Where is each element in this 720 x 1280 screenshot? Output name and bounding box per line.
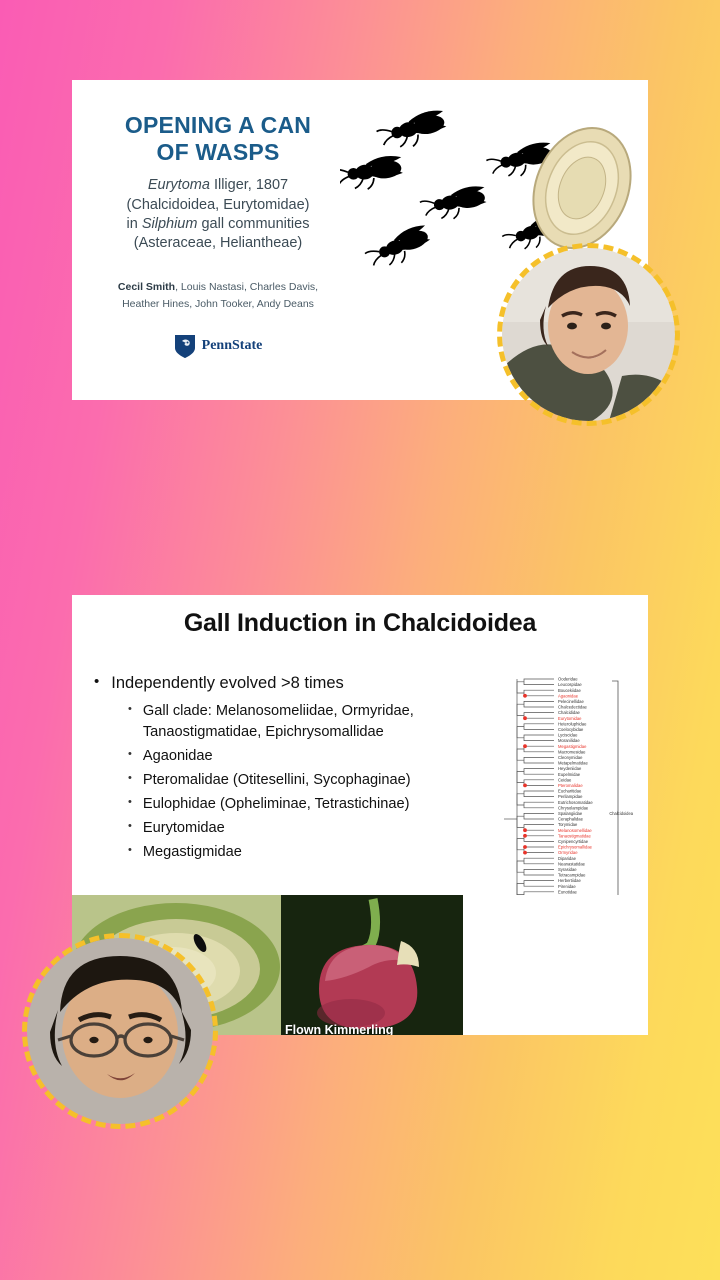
bullet-dot-icon: • (128, 746, 132, 766)
page-title: OPENING A CAN OF WASPS (88, 112, 348, 166)
authority-year: Illiger, 1807 (210, 177, 288, 193)
sub-bullet-label: Pteromalidae (Otitesellini, Sycophaginae… (143, 770, 411, 790)
gall-origin-node (523, 744, 527, 748)
bullet-dot-icon: • (128, 842, 132, 862)
tree-taxon-label: Tetracampidae (558, 873, 586, 878)
wasp-5 (362, 223, 434, 273)
tree-taxon-label: Eunotidae (558, 889, 578, 894)
webcam-bubble-speaker-1[interactable] (497, 243, 680, 426)
tree-taxon-label: Leucospidae (558, 682, 582, 687)
bullet-list-region: • Independently evolved >8 times •Gall c… (94, 673, 424, 866)
tree-taxon-label: Pirenidae (558, 884, 576, 889)
presenting-author: Cecil Smith (118, 281, 175, 293)
gall-origin-node (523, 851, 527, 855)
gall-origin-node (523, 828, 527, 832)
author-list: Cecil Smith, Louis Nastasi, Charles Davi… (88, 279, 348, 312)
sub-bullet-label: Gall clade: Melanosomeliidae, Ormyridae,… (143, 701, 424, 741)
bullet-dot-icon: • (94, 673, 99, 694)
tree-taxon-label: Coelocybidae (558, 727, 584, 732)
pennstate-wordmark: PennState (202, 338, 263, 354)
bullet-dot-icon: • (128, 701, 132, 741)
photo-red-gall: Flown Kimmerling (281, 895, 463, 1035)
tree-taxon-label: Syrasidae (558, 867, 577, 872)
sub-bullet-label: Eurytomidae (143, 818, 225, 838)
webcam-ring-speaker-1 (497, 243, 680, 426)
tree-taxon-label: Neanastatidae (558, 861, 586, 866)
title-line-1: OPENING A CAN (88, 112, 348, 139)
sub-bullet-list: •Gall clade: Melanosomeliidae, Ormyridae… (128, 701, 424, 862)
gall-origin-node (523, 716, 527, 720)
tree-taxon-label: Moranilidae (558, 738, 580, 743)
tree-taxon-label: Cleonymidae (558, 755, 583, 760)
sub-bullet-item: •Pteromalidae (Otitesellini, Sycophagina… (128, 770, 424, 790)
webcam-bubble-speaker-2[interactable] (22, 933, 218, 1129)
tree-taxon-label: Pelecinellidae (558, 699, 585, 704)
sub-bullet-item: •Gall clade: Melanosomeliidae, Ormyridae… (128, 701, 424, 741)
tree-taxon-label: Ceraphalidae (558, 817, 584, 822)
sub-bullet-label: Eulophidae (Opheliminae, Tetrastichinae) (143, 794, 410, 814)
wasp-3 (419, 185, 488, 223)
sub-bullet-label: Megastigmidae (143, 842, 242, 862)
gall-origin-node (523, 845, 527, 849)
photo-credit-label: Flown Kimmerling (285, 1023, 393, 1035)
tree-taxon-label: Cynipencyrtidae (558, 839, 589, 844)
tree-taxon-label: Boucekiidae (558, 688, 581, 693)
tree-taxon-label: Megastigmidae (558, 744, 587, 749)
tree-taxon-label: Eucharitidae (558, 789, 582, 794)
tree-taxon-label: Agaonidae (558, 693, 579, 698)
sub-bullet-item: •Megastigmidae (128, 842, 424, 862)
bullet-main: • Independently evolved >8 times (94, 673, 424, 694)
bullet-main-label: Independently evolved >8 times (111, 673, 344, 694)
bullet-dot-icon: • (128, 794, 132, 814)
tree-taxon-label: Herbertiidae (558, 878, 581, 883)
sub-bullet-item: •Eulophidae (Opheliminae, Tetrastichinae… (128, 794, 424, 814)
sub-bullet-item: •Agaonidae (128, 746, 424, 766)
gall-origin-node (523, 694, 527, 698)
host-line-pre: in (127, 216, 142, 232)
slide-heading: Gall Induction in Chalcidoidea (72, 609, 648, 638)
subtitle-block: Eurytoma Illiger, 1807 (Chalcidoidea, Eu… (88, 176, 348, 253)
tree-taxon-label: Ormyridae (558, 850, 578, 855)
bullet-dot-icon: • (128, 770, 132, 790)
photo-strip-filler (463, 895, 648, 1035)
tree-taxon-label: Tanaostigmatidae (558, 833, 591, 838)
host-line-rest: gall communities (197, 216, 309, 232)
sub-bullet-label: Agaonidae (143, 746, 213, 766)
tree-taxon-label: Torymidae (558, 822, 578, 827)
tree-taxon-label: Heteroluphidae (558, 721, 587, 726)
tree-taxon-label: Lyciscidae (558, 733, 578, 738)
tree-taxon-label: Ooderidae (558, 677, 578, 682)
tree-taxon-label: Chalcedectidae (558, 705, 588, 710)
tree-taxon-label: Metapelmatidae (558, 761, 588, 766)
sub-bullet-item: •Eurytomidae (128, 818, 424, 838)
tree-taxon-label: Epichrysomallidae (558, 845, 593, 850)
red-gall-image (281, 895, 463, 1035)
coauthors-line-2: Heather Hines, John Tooker, Andy Deans (122, 298, 314, 310)
genus-name: Eurytoma (148, 177, 210, 193)
tree-taxon-label: Spalangiidae (558, 811, 583, 816)
host-family-line: (Asteraceae, Heliantheae) (134, 235, 302, 251)
family-line: (Chalcidoidea, Eurytomidae) (127, 197, 310, 213)
title-text-column: OPENING A CAN OF WASPS Eurytoma Illiger,… (88, 112, 348, 359)
tree-taxon-label: Chrysolampidae (558, 805, 589, 810)
tree-taxon-label: Ceidae (558, 777, 572, 782)
host-genus: Silphium (142, 216, 198, 232)
tree-taxon-label: Pteromalidae (558, 783, 583, 788)
coauthors-line-1: , Louis Nastasi, Charles Davis, (175, 281, 318, 293)
tree-taxon-label: Eutrichosomatidae (558, 800, 593, 805)
wasp-2 (340, 155, 404, 193)
tree-taxon-label: Eurytomidae (558, 716, 582, 721)
pennstate-logo: PennState (88, 334, 348, 359)
presentation-stage: OPENING A CAN OF WASPS Eurytoma Illiger,… (0, 0, 720, 1280)
wasp-1 (375, 108, 449, 153)
clade-bracket-label: Chalcidoidea (609, 811, 633, 816)
pennstate-shield-icon (174, 334, 196, 359)
tree-taxon-label: Melanosomellidae (558, 828, 592, 833)
gall-origin-node (523, 784, 527, 788)
title-line-2: OF WASPS (88, 139, 348, 166)
bullet-dot-icon: • (128, 818, 132, 838)
webcam-ring-speaker-2 (22, 933, 218, 1129)
gall-origin-node (523, 834, 527, 838)
tree-taxon-label: Macromesidae (558, 749, 586, 754)
tree-taxon-label: Heydeniidae (558, 766, 582, 771)
tree-taxon-label: Perilampidae (558, 794, 583, 799)
tree-taxon-label: Eupelmidae (558, 772, 581, 777)
tree-taxon-label: Chalcididae (558, 710, 581, 715)
tree-taxon-label: Diparidae (558, 856, 577, 861)
